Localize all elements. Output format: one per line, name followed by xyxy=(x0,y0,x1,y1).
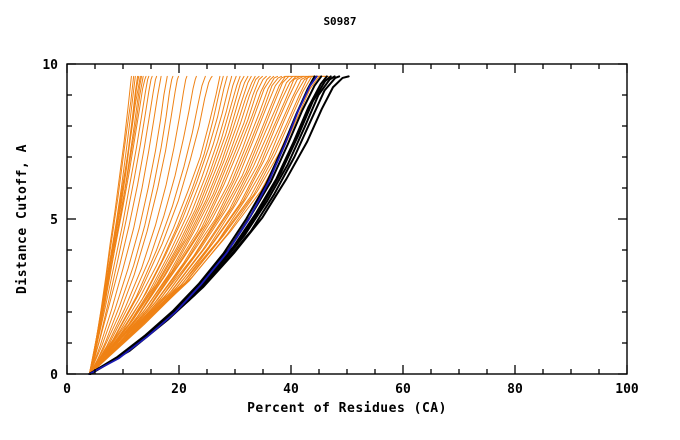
x-tick-label-100: 100 xyxy=(615,382,639,397)
x-tick-label-0: 0 xyxy=(63,382,71,397)
x-tick-label-80: 80 xyxy=(507,382,523,397)
y-tick-label-5: 5 xyxy=(50,213,58,228)
page-title: S0987 xyxy=(323,15,356,28)
x-tick-label-40: 40 xyxy=(283,382,299,397)
x-tick-label-20: 20 xyxy=(171,382,187,397)
y-tick-label-0: 0 xyxy=(50,368,58,383)
y-tick-label-10: 10 xyxy=(42,58,58,73)
x-tick-label-60: 60 xyxy=(395,382,411,397)
y-axis-title: Distance Cutoff, A xyxy=(15,144,30,294)
plot-figure: S0987 0204060801000510 Percent of Residu… xyxy=(0,0,680,440)
x-axis-title: Percent of Residues (CA) xyxy=(247,401,447,416)
